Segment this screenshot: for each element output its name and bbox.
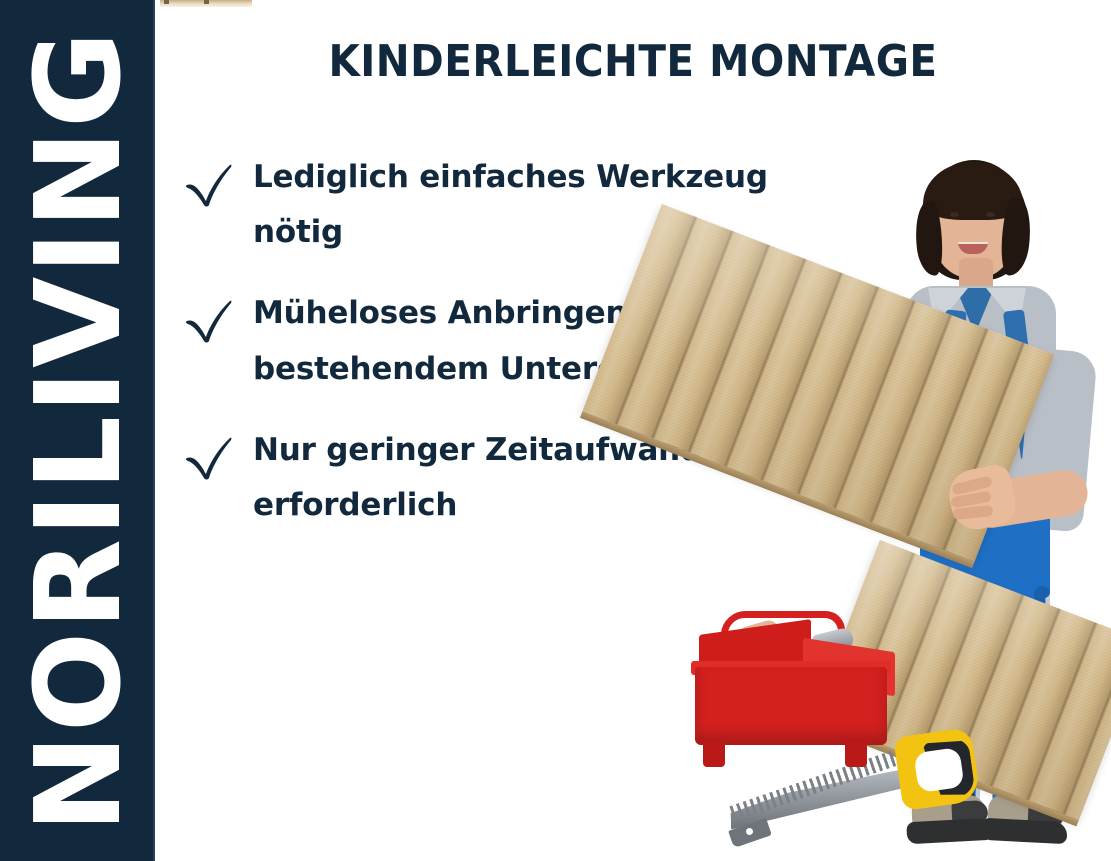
check-icon [183,158,235,208]
brand-rail: NORILIVING [0,0,155,861]
eye-right [986,212,995,217]
promo-banner: NORILIVING KINDERLEICHTE MONTAGE Ledigli… [0,0,1111,861]
check-icon [183,431,235,481]
check-icon [183,294,235,344]
eye-left [950,212,959,217]
page-title: KINDERLEICHTE MONTAGE [193,36,1073,87]
toolbox-foot-left [703,741,725,767]
toolbox-foot-right [845,741,867,767]
saw-hole [746,828,753,835]
toolbox-body [695,667,887,745]
red-toolbox [695,615,945,815]
top-crop-artifact [160,0,252,7]
product-photo [620,150,1111,861]
brand-name: NORILIVING [19,29,137,833]
brand-rail-edge [153,0,155,861]
